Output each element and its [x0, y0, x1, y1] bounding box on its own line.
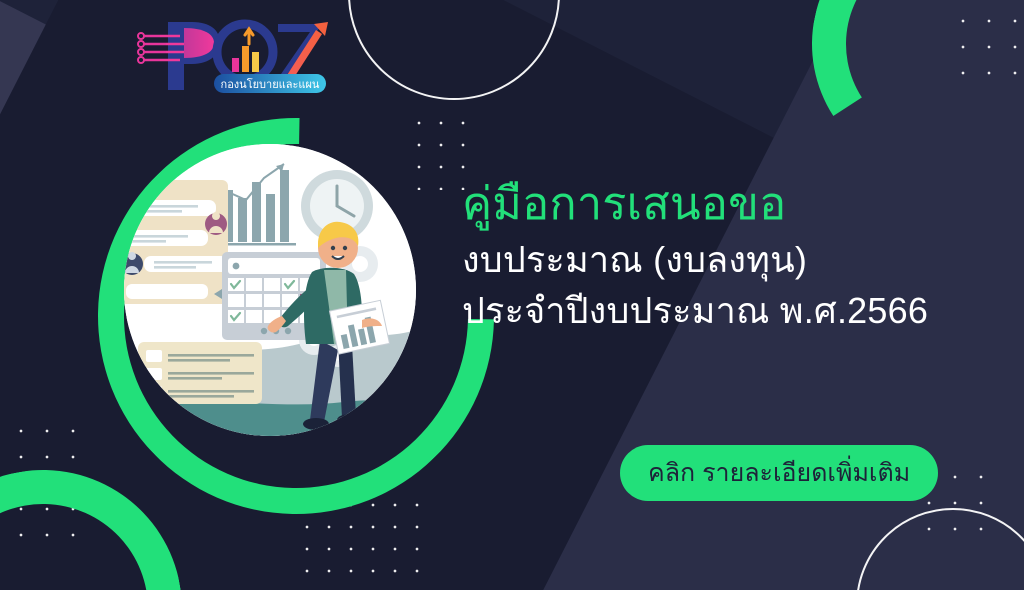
headline-line-3: ประจำปีงบประมาณ พ.ศ.2566	[462, 285, 982, 336]
headline-line-1: คู่มือการเสนอขอ	[462, 178, 982, 230]
headline: คู่มือการเสนอขอ งบประมาณ (งบลงทุน) ประจำ…	[462, 178, 982, 336]
logo-tagline: กองนโยบายและแผน	[221, 77, 320, 91]
illustration-circle	[124, 144, 416, 436]
poz-logo[interactable]: กองนโยบายและแผน	[132, 16, 332, 98]
headline-line-2: งบประมาณ (งบลงทุน)	[462, 234, 982, 285]
promo-banner: กองนโยบายและแผน คู่มือการเสนอขอ งบประมาณ…	[0, 0, 1024, 590]
illustration	[98, 118, 442, 470]
more-details-button[interactable]: คลิก รายละเอียดเพิ่มเติม	[620, 445, 938, 501]
